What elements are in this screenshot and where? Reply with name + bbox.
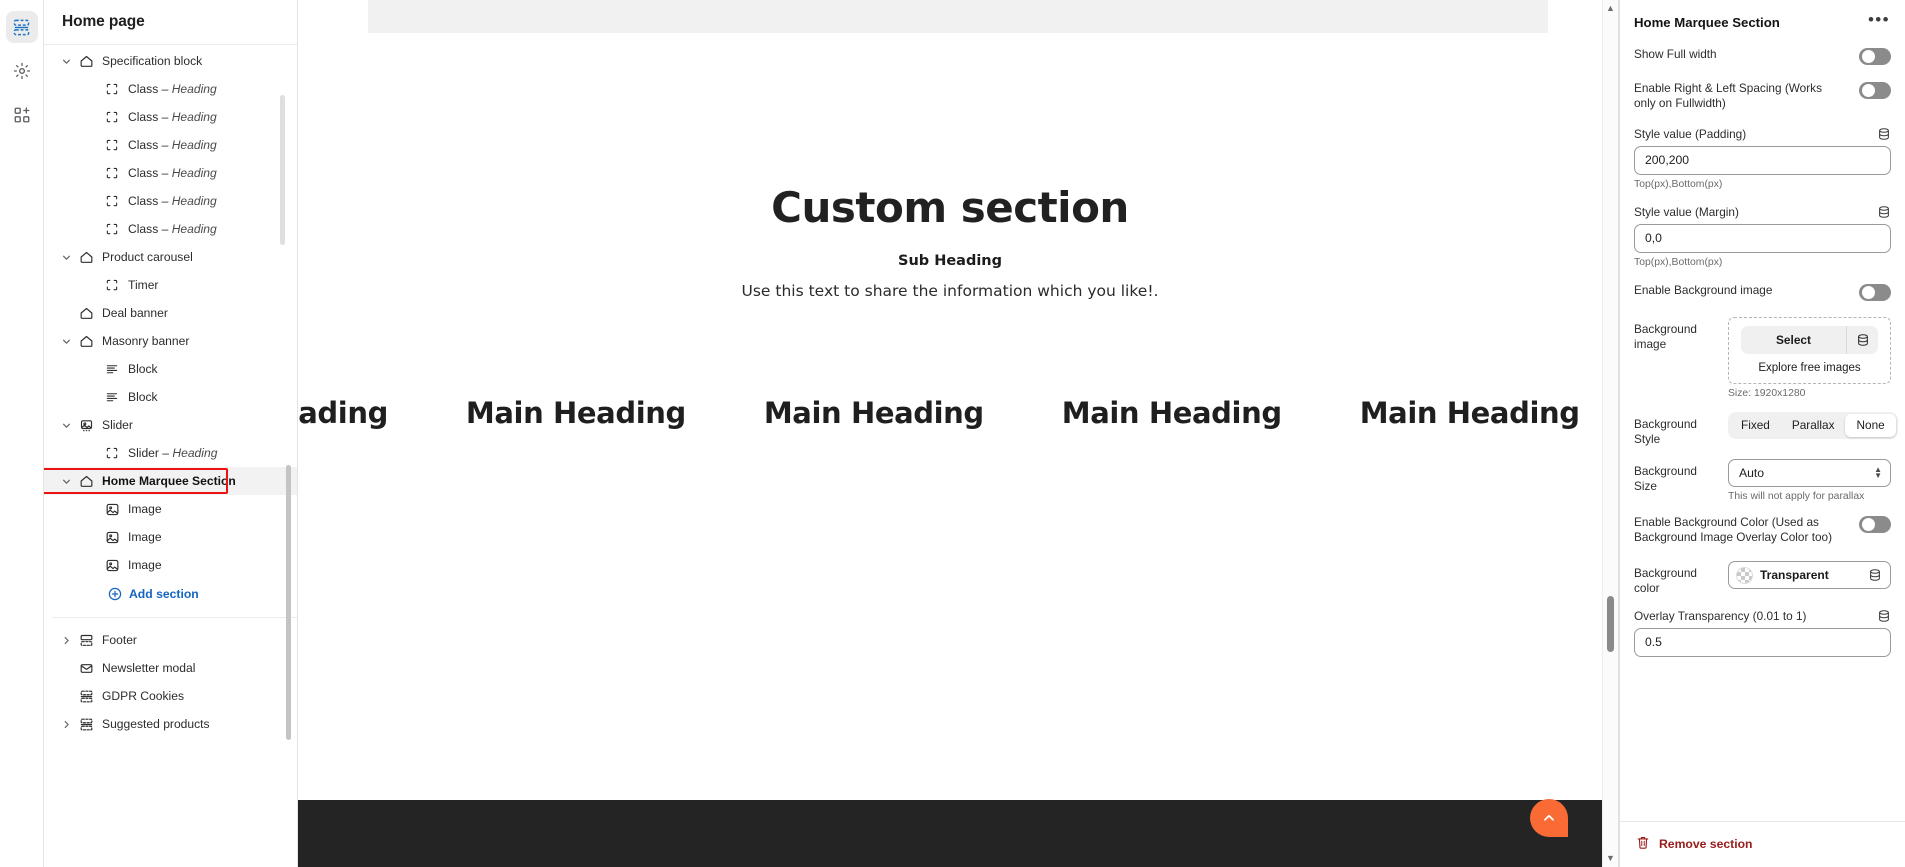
rail-item-sections[interactable] (6, 11, 38, 43)
rail-item-settings[interactable] (6, 55, 38, 87)
tree-divider (52, 617, 297, 618)
image-icon (102, 530, 122, 545)
enable-bg-image-row: Enable Background image (1634, 283, 1891, 301)
sidebar-inner-scrollbar-thumb[interactable] (280, 95, 285, 245)
scroll-to-top-button[interactable] (1530, 799, 1568, 837)
overlay-transparency-label: Overlay Transparency (0.01 to 1) (1634, 609, 1806, 623)
color-swatch-icon (1736, 567, 1753, 584)
background-size-value: Auto (1739, 466, 1764, 480)
tree-item-label: GDPR Cookies (102, 689, 184, 703)
preview-body-text: Use this text to share the information w… (298, 282, 1602, 300)
image-icon (102, 558, 122, 573)
tree-item-label: Image (128, 558, 162, 572)
tree-item-label: Slider – Heading (128, 446, 217, 460)
tree-item-label: Newsletter modal (102, 661, 195, 675)
margin-dynamic-source-icon[interactable] (1877, 205, 1891, 219)
home-icon (76, 474, 96, 489)
theme-editor-window: Home page Specification blockClass – Hea… (0, 0, 1905, 867)
slider-image-icon (76, 418, 96, 433)
tree-item-label: Home Marquee Section (102, 474, 236, 488)
tree-item-block[interactable]: Block (44, 355, 297, 383)
add-section-button[interactable]: Add section (44, 579, 297, 609)
background-style-row: Background Style FixedParallaxNone (1634, 412, 1891, 447)
padding-label: Style value (Padding) (1634, 127, 1746, 141)
apps-add-icon (13, 106, 31, 124)
trash-icon (1636, 835, 1650, 853)
background-size-select[interactable]: Auto ▲▼ (1728, 459, 1891, 487)
enable-spacing-label: Enable Right & Left Spacing (Works only … (1634, 81, 1846, 111)
preview-sub-heading: Sub Heading (298, 253, 1602, 269)
marquee-item: Main Heading (466, 396, 764, 430)
tree-item-product-carousel[interactable]: Product carousel (44, 243, 297, 271)
home-icon (76, 334, 96, 349)
enable-bg-image-label: Enable Background image (1634, 283, 1772, 298)
section-tree-scroll: Specification blockClass – HeadingClass … (44, 45, 297, 867)
tree-item-label: Class – Heading (128, 138, 217, 152)
toggle-knob (1862, 50, 1875, 63)
rail-item-apps[interactable] (6, 99, 38, 131)
tree-item-label: Timer (128, 278, 158, 292)
tree-item-footer[interactable]: Footer (44, 626, 297, 654)
tree-item-image[interactable]: Image (44, 523, 297, 551)
inspector-body: Home Marquee Section ••• Show Full width… (1620, 0, 1905, 821)
select-image-button[interactable]: Select (1741, 326, 1846, 354)
background-color-label: Background color (1634, 561, 1720, 596)
storefront-preview[interactable]: Custom section Sub Heading Use this text… (298, 33, 1602, 867)
tree-item-deal-banner[interactable]: Deal banner (44, 299, 297, 327)
scrollbar-up-arrow[interactable]: ▲ (1606, 4, 1615, 13)
tree-item-class[interactable]: Class – Heading (44, 131, 297, 159)
marquee-item: Main Heading (1062, 396, 1360, 430)
footer-icon (76, 633, 96, 648)
enable-bg-color-row: Enable Background Color (Used as Backgro… (1634, 515, 1891, 545)
tree-item-slider[interactable]: Slider – Heading (44, 439, 297, 467)
marquee-strip: Main HeadingMain HeadingMain HeadingMain… (298, 383, 1602, 443)
sections-icon (76, 717, 96, 732)
padding-dynamic-source-icon[interactable] (1877, 127, 1891, 141)
block-icon (102, 446, 122, 460)
tree-item-home-marquee-section[interactable]: Home Marquee Section (44, 467, 297, 495)
margin-hint: Top(px),Bottom(px) (1634, 257, 1891, 268)
inspector-header: Home Marquee Section ••• (1634, 15, 1891, 30)
margin-input[interactable] (1634, 224, 1891, 253)
chevron-down-icon[interactable] (56, 56, 76, 67)
plus-circle-icon (108, 587, 122, 601)
more-options-button[interactable]: ••• (1867, 15, 1891, 25)
select-image-dynamic-source-icon[interactable] (1846, 326, 1878, 354)
chevron-down-icon[interactable] (56, 476, 76, 487)
block-icon (102, 222, 122, 236)
tree-item-suggested-products[interactable]: Suggested products (44, 710, 297, 738)
chevron-updown-icon: ▲▼ (1874, 467, 1882, 479)
margin-field: Style value (Margin) Top(px),Bottom(px) (1634, 205, 1891, 268)
remove-section-button[interactable]: Remove section (1636, 835, 1891, 853)
canvas-scrollbar[interactable]: ▲ ▼ (1602, 0, 1618, 867)
sidebar-header: Home page (44, 0, 297, 45)
enable-spacing-toggle[interactable] (1859, 82, 1891, 99)
preview-footer-band (298, 800, 1602, 867)
tree-item-label: Image (128, 530, 162, 544)
padding-field-head: Style value (Padding) (1634, 127, 1891, 141)
background-image-control: Select Explore free images Size: (1728, 317, 1891, 399)
tree-item-label: Block (128, 390, 158, 404)
tree-item-label: Masonry banner (102, 334, 189, 348)
sections-sidebar: Home page Specification blockClass – Hea… (44, 0, 298, 867)
background-style-option-none[interactable]: None (1845, 414, 1895, 437)
marquee-item: Main Heading (298, 396, 466, 430)
preview-canvas: Custom section Sub Heading Use this text… (298, 0, 1619, 867)
background-image-size-hint: Size: 1920x1280 (1728, 388, 1891, 399)
block-icon (102, 82, 122, 96)
tree-item-label: Slider (102, 418, 133, 432)
tree-item-gdpr-cookies[interactable]: GDPR Cookies (44, 682, 297, 710)
sidebar-scrollbar-thumb[interactable] (286, 465, 291, 740)
preview-heading: Custom section (298, 183, 1602, 232)
tree-item-slider[interactable]: Slider (44, 411, 297, 439)
background-color-value: Transparent (1760, 568, 1861, 582)
tree-item-label: Footer (102, 633, 137, 647)
scrollbar-down-arrow[interactable]: ▼ (1606, 854, 1615, 863)
padding-input[interactable] (1634, 146, 1891, 175)
tree-item-block[interactable]: Block (44, 383, 297, 411)
footer-section-tree: FooterNewsletter modalGDPR CookiesSugges… (44, 624, 297, 738)
block-icon (102, 194, 122, 208)
show-full-width-label: Show Full width (1634, 47, 1717, 62)
block-icon (102, 110, 122, 124)
chevron-up-icon (1542, 811, 1556, 825)
background-color-row: Background color Transparent (1634, 561, 1891, 596)
background-style-control: FixedParallaxNone (1728, 412, 1898, 439)
chevron-right-icon[interactable] (56, 719, 76, 730)
canvas-scrollbar-thumb[interactable] (1607, 596, 1614, 652)
page-title: Home page (62, 13, 145, 31)
marquee-item: Main Heading (1360, 396, 1602, 430)
background-size-row: Background Size Auto ▲▼ This will not ap… (1634, 459, 1891, 502)
enable-spacing-row: Enable Right & Left Spacing (Works only … (1634, 81, 1891, 111)
tree-item-label: Deal banner (102, 306, 168, 320)
tree-item-class[interactable]: Class – Heading (44, 159, 297, 187)
chevron-down-icon[interactable] (56, 420, 76, 431)
padding-hint: Top(px),Bottom(px) (1634, 179, 1891, 190)
tree-item-label: Class – Heading (128, 222, 217, 236)
section-tree: Specification blockClass – HeadingClass … (44, 45, 297, 579)
tree-item-label: Specification block (102, 54, 202, 68)
home-icon (76, 250, 96, 265)
toggle-knob (1862, 286, 1875, 299)
background-color-dynamic-source-icon[interactable] (1868, 568, 1882, 582)
background-image-dropzone[interactable]: Select Explore free images (1728, 317, 1891, 384)
tree-item-class[interactable]: Class – Heading (44, 215, 297, 243)
tree-item-specification-block[interactable]: Specification block (44, 47, 297, 75)
sections-icon (12, 18, 31, 37)
background-size-hint: This will not apply for parallax (1728, 491, 1891, 502)
block-icon (102, 278, 122, 292)
toggle-knob (1862, 84, 1875, 97)
overlay-transparency-input[interactable] (1634, 628, 1891, 657)
background-image-row: Background image Select (1634, 317, 1891, 399)
enable-bg-color-label: Enable Background Color (Used as Backgro… (1634, 515, 1846, 545)
tree-item-image[interactable]: Image (44, 495, 297, 523)
background-size-control: Auto ▲▼ This will not apply for parallax (1728, 459, 1891, 502)
overlay-transparency-head: Overlay Transparency (0.01 to 1) (1634, 609, 1891, 623)
tree-item-image[interactable]: Image (44, 551, 297, 579)
show-full-width-toggle[interactable] (1859, 48, 1891, 65)
home-icon (76, 306, 96, 321)
envelope-icon (76, 661, 96, 676)
tree-item-label: Image (128, 502, 162, 516)
overlay-transparency-field: Overlay Transparency (0.01 to 1) (1634, 609, 1891, 657)
section-inspector: Home Marquee Section ••• Show Full width… (1619, 0, 1905, 867)
left-icon-rail (0, 0, 44, 867)
padding-field: Style value (Padding) Top(px),Bottom(px) (1634, 127, 1891, 190)
text-lines-icon (102, 362, 122, 376)
tree-item-masonry-banner[interactable]: Masonry banner (44, 327, 297, 355)
sidebar-scrollbar-track[interactable] (289, 45, 294, 867)
tree-item-class[interactable]: Class – Heading (44, 187, 297, 215)
gear-icon (13, 62, 31, 80)
enable-bg-image-toggle[interactable] (1859, 284, 1891, 301)
image-icon (102, 502, 122, 517)
chevron-down-icon[interactable] (56, 252, 76, 263)
text-lines-icon (102, 390, 122, 404)
background-style-option-parallax[interactable]: Parallax (1781, 414, 1846, 437)
home-icon (76, 54, 96, 69)
tree-item-label: Block (128, 362, 158, 376)
inspector-footer: Remove section (1620, 821, 1905, 867)
tree-item-newsletter-modal[interactable]: Newsletter modal (44, 654, 297, 682)
background-color-control: Transparent (1728, 561, 1891, 589)
block-icon (102, 166, 122, 180)
select-image-group: Select (1741, 326, 1878, 354)
tree-item-label: Class – Heading (128, 166, 217, 180)
canvas-top-strip (368, 0, 1548, 33)
add-section-label: Add section (129, 587, 199, 601)
tree-item-timer[interactable]: Timer (44, 271, 297, 299)
margin-field-head: Style value (Margin) (1634, 205, 1891, 219)
chevron-right-icon[interactable] (56, 635, 76, 646)
overlay-transparency-dynamic-source-icon[interactable] (1877, 609, 1891, 623)
toggle-knob (1862, 518, 1875, 531)
background-size-label: Background Size (1634, 459, 1720, 494)
tree-item-class[interactable]: Class – Heading (44, 103, 297, 131)
margin-label: Style value (Margin) (1634, 205, 1739, 219)
tree-item-label: Class – Heading (128, 82, 217, 96)
tree-item-class[interactable]: Class – Heading (44, 75, 297, 103)
tree-item-label: Suggested products (102, 717, 210, 731)
explore-free-images-link[interactable]: Explore free images (1737, 362, 1882, 374)
background-color-picker[interactable]: Transparent (1728, 561, 1891, 589)
block-icon (102, 138, 122, 152)
chevron-down-icon[interactable] (56, 336, 76, 347)
enable-bg-color-toggle[interactable] (1859, 516, 1891, 533)
background-style-option-fixed[interactable]: Fixed (1730, 414, 1781, 437)
sections-icon (76, 689, 96, 704)
inspector-title: Home Marquee Section (1634, 15, 1780, 30)
marquee-item: Main Heading (764, 396, 1062, 430)
background-style-segmented[interactable]: FixedParallaxNone (1728, 412, 1898, 439)
remove-section-label: Remove section (1659, 837, 1752, 851)
show-full-width-row: Show Full width (1634, 47, 1891, 65)
background-style-label: Background Style (1634, 412, 1720, 447)
tree-item-label: Product carousel (102, 250, 193, 264)
tree-item-label: Class – Heading (128, 110, 217, 124)
background-image-label: Background image (1634, 317, 1720, 352)
tree-item-label: Class – Heading (128, 194, 217, 208)
